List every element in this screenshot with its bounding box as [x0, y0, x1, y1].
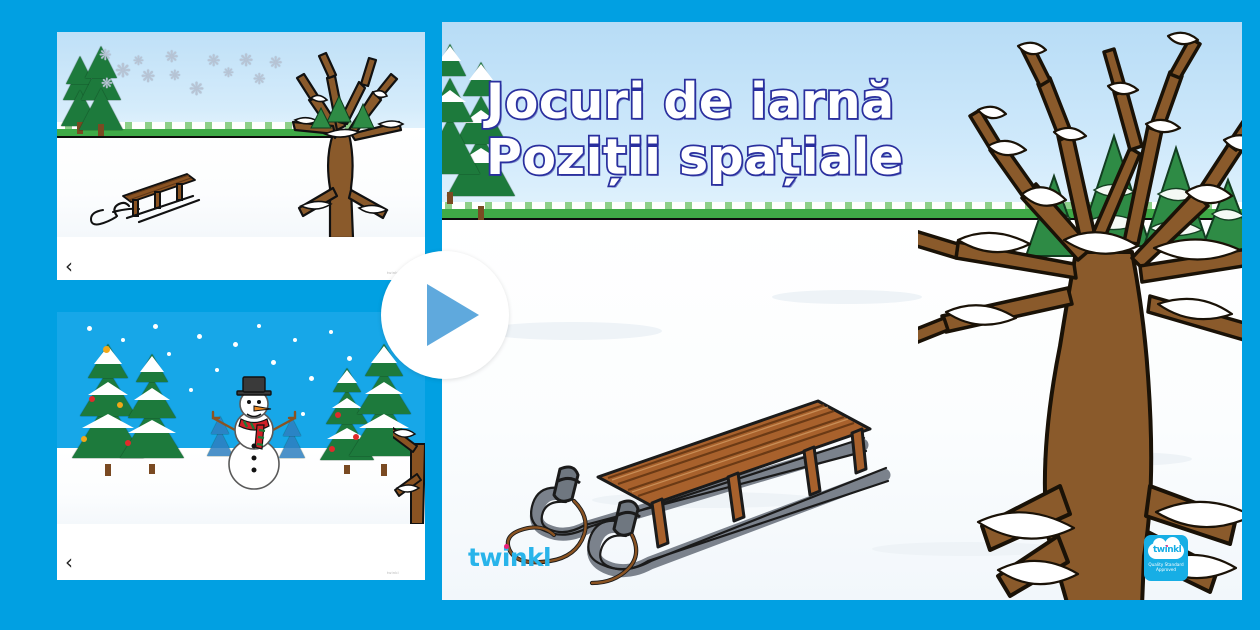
snow-dot [309, 376, 314, 381]
snowflake-icon: ❋ [223, 66, 234, 79]
snowflake-icon: ❋ [239, 52, 253, 69]
pine-tree [442, 30, 480, 200]
snow-dot [271, 360, 276, 365]
pine-tree [119, 354, 185, 472]
thumbnail-1-prev-chevron-icon[interactable]: ‹ [65, 256, 73, 276]
snow-dot [87, 326, 92, 331]
play-triangle-icon [427, 284, 479, 346]
badge-tagline: Quality Standard Approved [1144, 562, 1188, 573]
snowflake-icon: ❋ [99, 48, 112, 63]
snow-dot [215, 368, 219, 372]
ground-shade [482, 322, 662, 340]
snowflake-icon: ❋ [133, 54, 144, 67]
badge-tagline-line-2: Approved [1144, 567, 1188, 572]
snowflake-icon: ❋ [165, 50, 178, 66]
snowflake-icon: ❋ [253, 72, 266, 87]
snow-dot [257, 324, 261, 328]
snow-dot [121, 338, 125, 342]
snowman [199, 374, 309, 495]
thumbnail-2-artwork [57, 312, 425, 524]
main-slide[interactable]: Jocuri de iarnă Poziții spațiale twinkl … [442, 22, 1242, 600]
snowflake-icon: ❋ [115, 62, 131, 81]
twinkl-wordmark: twinkl [468, 543, 551, 572]
sled [83, 154, 211, 226]
twinkl-quality-badge: twinkl Quality Standard Approved [1144, 535, 1188, 581]
snowflake-icon: ❋ [189, 80, 204, 98]
thumbnail-corner-mark: twinkl [387, 570, 399, 575]
presentation-preview: ❋ ❋ ❋ ❋ ❋ ❋ ❋ ❋ ❋ ❋ ❋ ❋ ❋ [0, 0, 1260, 630]
slide-title-line-1: Jocuri de iarnă [486, 73, 895, 130]
badge-dot-icon [1166, 545, 1169, 548]
snow-dot [153, 324, 158, 329]
bare-tree-large [918, 22, 1242, 600]
thumbnail-2-prev-chevron-icon[interactable]: ‹ [65, 552, 73, 572]
snow-dot [197, 334, 202, 339]
bare-tree [275, 38, 425, 237]
slide-title-line-2: Poziții spațiale [486, 130, 904, 186]
snowflake-icon: ❋ [141, 68, 155, 85]
snow-dot [233, 342, 238, 347]
snow-dot [293, 338, 297, 342]
snow-dot [329, 330, 333, 334]
slide-thumbnail-1[interactable]: ❋ ❋ ❋ ❋ ❋ ❋ ❋ ❋ ❋ ❋ ❋ ❋ ❋ [57, 32, 425, 280]
twinkl-dot-icon [504, 544, 509, 549]
snowflake-icon: ❋ [101, 76, 113, 90]
snow-dot [189, 388, 193, 392]
slide-title: Jocuri de iarnă Poziții spațiale [486, 74, 904, 186]
bare-tree-partial [393, 404, 425, 524]
twinkl-wordmark-text: twinkl [468, 543, 551, 572]
thumbnail-1-artwork: ❋ ❋ ❋ ❋ ❋ ❋ ❋ ❋ ❋ ❋ ❋ ❋ ❋ [57, 32, 425, 237]
snowflake-icon: ❋ [207, 54, 220, 70]
play-button[interactable] [381, 251, 509, 379]
sled-main [500, 377, 920, 600]
ground-shade [772, 290, 922, 304]
snowflake-icon: ❋ [169, 68, 181, 82]
